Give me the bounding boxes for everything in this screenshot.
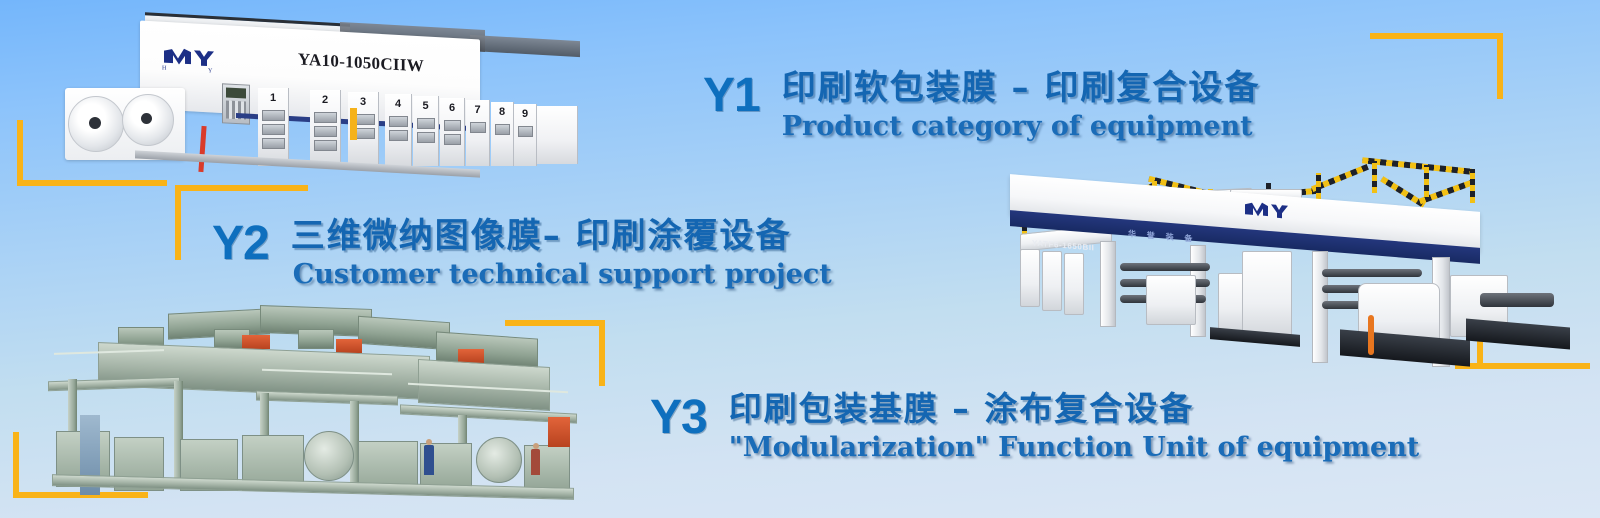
m1-unit-number: 8 — [491, 106, 513, 118]
entry-y2-title-en: Customer technical support project — [293, 259, 832, 290]
m2-brand-logo-hy — [1242, 199, 1292, 223]
m1-red-strip — [198, 126, 206, 172]
machine-image-printing-press: H Y YA10-1050CIIW 1 2 — [40, 8, 600, 183]
m1-print-unit: 7 — [466, 100, 490, 166]
m1-unit-panel — [262, 110, 285, 121]
m1-unit-panel — [262, 138, 285, 149]
m1-unit-number: 7 — [466, 104, 489, 116]
m2-rail-post — [1424, 165, 1429, 197]
m3-operator-head — [533, 443, 539, 449]
m1-unit-panel — [444, 120, 461, 131]
m2-orange-hose — [1368, 315, 1374, 355]
m1-unit-panel — [470, 122, 486, 133]
m2-side-cabinet — [1020, 249, 1040, 307]
m1-top-mechanism — [470, 35, 580, 57]
entry-y3-code: Y3 — [650, 394, 707, 442]
m1-unit-number: 3 — [348, 96, 378, 108]
m1-unit-number: 6 — [440, 102, 464, 114]
m2-side-cabinet — [1146, 275, 1196, 325]
m1-unit-number: 2 — [310, 94, 340, 106]
m2-end-base — [1466, 318, 1570, 349]
entry-y1-title-en: Product category of equipment — [782, 111, 1261, 142]
m1-unit-panel — [417, 132, 435, 143]
m1-print-unit: 1 — [258, 88, 289, 166]
m3-operator — [424, 445, 434, 475]
m1-brand-logo-hy: H Y — [160, 44, 216, 73]
m2-roller — [1322, 269, 1422, 277]
bracket-line-f-vertical — [13, 432, 19, 498]
m2-rail-post — [1470, 169, 1475, 203]
m1-unit-panel — [389, 130, 408, 141]
entry-y2-code: Y2 — [212, 220, 269, 268]
machine-image-laminator: YATF6-1650BII 华 誉 装 备 — [980, 145, 1580, 375]
m3-red-unit — [242, 335, 270, 349]
entry-y3-title-cn: 印刷包装基膜 – 涂布复合设备 — [729, 382, 1420, 430]
m2-safety-rail — [1362, 157, 1472, 174]
m2-rail-post — [1316, 173, 1321, 199]
entry-y3: Y3 印刷包装基膜 – 涂布复合设备 "Modularization" Func… — [650, 382, 1419, 463]
m2-side-cabinet — [1042, 251, 1062, 311]
m1-print-unit: 4 — [385, 94, 412, 166]
m1-yellow-marker — [350, 108, 357, 140]
svg-text:Y: Y — [208, 68, 213, 73]
entry-y2: Y2 三维微纳图像膜– 印刷涂覆设备 Customer technical su… — [212, 208, 832, 290]
m1-unit-panel — [495, 124, 510, 135]
entry-y3-title-en: "Modularization" Function Unit of equipm… — [729, 432, 1420, 463]
m1-unit-panel — [314, 140, 337, 151]
m3-drum — [476, 437, 522, 483]
m1-unit-number: 9 — [514, 108, 536, 120]
m1-unit-number: 4 — [385, 98, 411, 110]
m2-support-leg — [1100, 241, 1116, 327]
bracket-line-c-horizontal — [1370, 33, 1503, 39]
entry-y2-text: 三维微纳图像膜– 印刷涂覆设备 Customer technical suppo… — [291, 208, 832, 290]
m1-unit-panel — [314, 126, 337, 137]
m2-safety-rail — [1380, 176, 1426, 208]
m1-print-unit: 8 — [491, 102, 514, 166]
entry-y3-text: 印刷包装基膜 – 涂布复合设备 "Modularization" Functio… — [729, 382, 1420, 463]
m1-print-unit: 2 — [310, 90, 341, 166]
bracket-line-b-vertical — [175, 185, 181, 260]
m2-side-cabinet — [1064, 253, 1084, 315]
m1-print-unit: 9 — [514, 104, 537, 166]
m1-print-unit: 6 — [440, 98, 465, 166]
m2-end-roller — [1480, 293, 1554, 307]
m1-print-unit: 5 — [413, 96, 439, 166]
m1-unit-number: 5 — [413, 100, 438, 112]
m3-drum — [304, 431, 354, 481]
bracket-line-a-vertical — [17, 120, 23, 186]
m2-roller — [1120, 263, 1210, 271]
entry-y1-code: Y1 — [703, 72, 760, 120]
machine-image-coating-line — [28, 305, 578, 495]
m1-unit-panel — [314, 112, 337, 123]
entry-y1-text: 印刷软包装膜 – 印刷复合设备 Product category of equi… — [782, 60, 1261, 142]
m1-unit-number: 1 — [258, 92, 288, 104]
m3-red-unit — [548, 417, 570, 447]
m1-unit-panel — [262, 124, 285, 135]
m3-operator — [531, 449, 540, 475]
m1-unit-panel — [389, 116, 408, 127]
bracket-line-b-horizontal — [175, 185, 308, 191]
promo-banner: H Y YA10-1050CIIW 1 2 — [0, 0, 1600, 518]
m2-rail-post — [1372, 161, 1377, 193]
m1-unit-panel — [518, 126, 533, 137]
m3-fan-unit — [298, 329, 334, 349]
entry-y2-title-cn: 三维微纳图像膜– 印刷涂覆设备 — [291, 208, 832, 257]
entry-y1-title-cn: 印刷软包装膜 – 印刷复合设备 — [782, 60, 1261, 109]
m3-red-unit — [336, 339, 362, 353]
m1-roll-hub — [89, 117, 101, 129]
m1-unit-panel — [444, 134, 461, 145]
m2-side-cabinet — [1242, 251, 1292, 339]
m3-operator-head — [426, 439, 432, 445]
m1-unit-panel — [417, 118, 435, 129]
bracket-line-c-vertical — [1497, 33, 1503, 99]
m1-roll-hub — [141, 113, 152, 124]
m1-control-screen — [226, 87, 246, 98]
entry-y1: Y1 印刷软包装膜 – 印刷复合设备 Product category of e… — [703, 60, 1260, 142]
bracket-line-d-vertical — [599, 320, 605, 386]
m1-print-unit — [537, 106, 578, 164]
